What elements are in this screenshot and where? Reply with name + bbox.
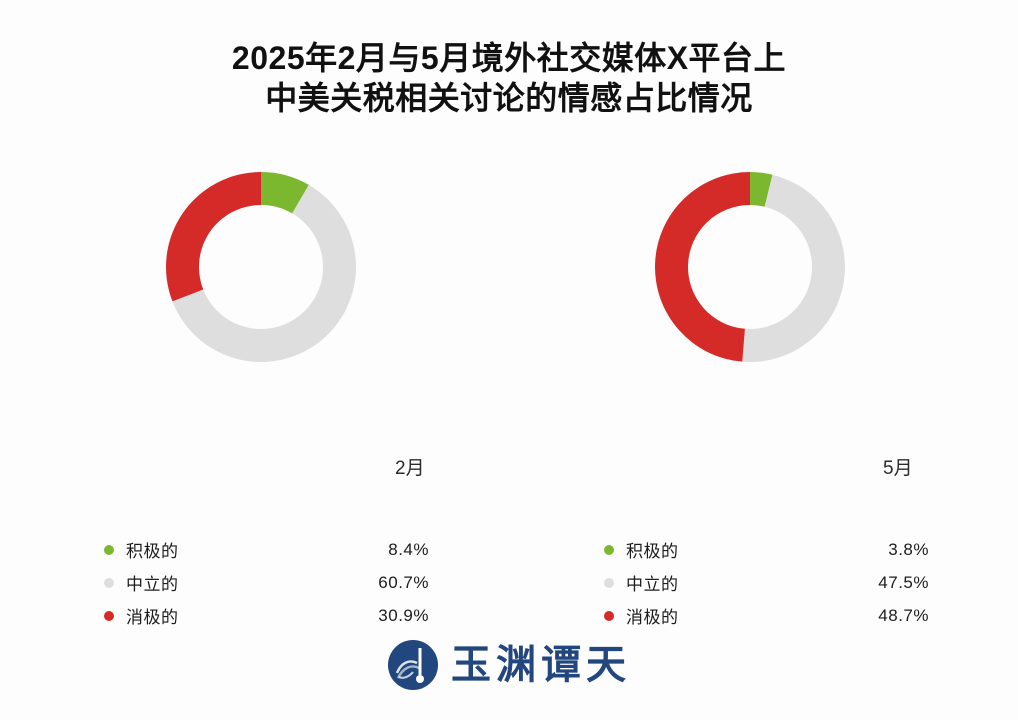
- legend-value-neutral: 47.5%: [839, 573, 929, 593]
- donut-slice: [166, 172, 261, 301]
- legend-dot-neutral-icon: [604, 578, 614, 588]
- legend-dot-neutral-icon: [104, 578, 114, 588]
- donut-slice: [655, 172, 750, 362]
- donut-chart-february: [161, 167, 361, 367]
- legend-label-negative: 消极的: [126, 603, 179, 628]
- legend-dot-negative-icon: [604, 611, 614, 621]
- legend-dot-positive-icon: [104, 545, 114, 555]
- legend-label-neutral: 中立的: [126, 570, 179, 595]
- watermark-logo: 玉渊谭天: [0, 639, 1018, 691]
- legend-item-negative: 消极的 48.7%: [604, 599, 934, 632]
- legend-value-negative: 30.9%: [339, 606, 429, 626]
- donut-panel-may: 5月: [535, 167, 955, 487]
- legend-item-negative: 消极的 30.9%: [104, 599, 434, 632]
- legend-value-negative: 48.7%: [839, 606, 929, 626]
- legend-dot-negative-icon: [104, 611, 114, 621]
- legend-value-neutral: 60.7%: [339, 573, 429, 593]
- title-line-1: 2025年2月与5月境外社交媒体X平台上: [0, 38, 1018, 78]
- legend-value-positive: 8.4%: [339, 540, 429, 560]
- legend-february: 积极的 8.4% 中立的 60.7% 消极的 30.9%: [104, 533, 434, 632]
- legend-label-negative: 消极的: [626, 603, 679, 628]
- month-label-february: 2月: [395, 453, 425, 480]
- chart-page: 2025年2月与5月境外社交媒体X平台上 中美关税相关讨论的情感占比情况 2月 …: [0, 0, 1018, 720]
- title-line-2: 中美关税相关讨论的情感占比情况: [0, 78, 1018, 118]
- legend-label-neutral: 中立的: [626, 570, 679, 595]
- legend-value-positive: 3.8%: [839, 540, 929, 560]
- legend-item-positive: 积极的 3.8%: [604, 533, 934, 566]
- logo-text: 玉渊谭天: [451, 645, 631, 685]
- legend-item-neutral: 中立的 47.5%: [604, 566, 934, 599]
- month-label-may: 5月: [883, 453, 913, 480]
- legend-item-positive: 积极的 8.4%: [104, 533, 434, 566]
- legend-label-positive: 积极的: [126, 537, 179, 562]
- legend-item-neutral: 中立的 60.7%: [104, 566, 434, 599]
- page-title: 2025年2月与5月境外社交媒体X平台上 中美关税相关讨论的情感占比情况: [0, 38, 1018, 119]
- yuyuantantian-emblem-icon: [387, 639, 439, 691]
- legend-dot-positive-icon: [604, 545, 614, 555]
- legend-may: 积极的 3.8% 中立的 47.5% 消极的 48.7%: [604, 533, 934, 632]
- donut-chart-may: [650, 167, 850, 367]
- legend-label-positive: 积极的: [626, 537, 679, 562]
- donut-panel-february: 2月: [46, 167, 466, 487]
